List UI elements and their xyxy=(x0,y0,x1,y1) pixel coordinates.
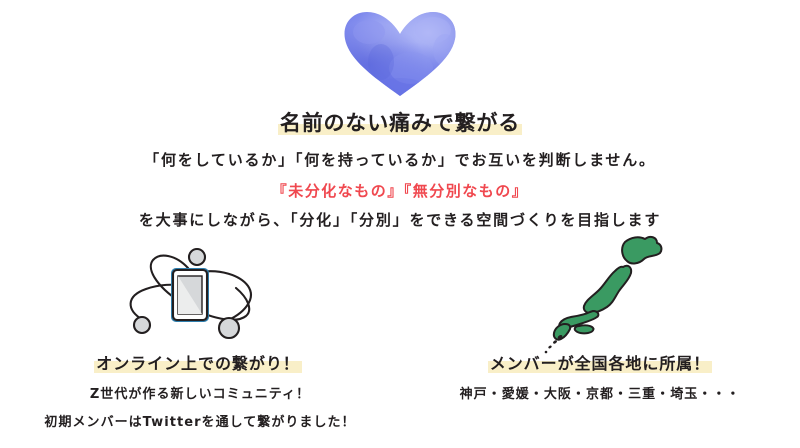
feature-title-nationwide: メンバーが全国各地に所属！ xyxy=(488,350,712,374)
lead-line-3: を大事にしながら、「分化」「分別」をできる空間づくりを目指します xyxy=(0,209,800,230)
slide-canvas: 名前のない痛みで繋がる 「何をしているか」「何を持っているか」でお互いを判断しま… xyxy=(0,0,800,448)
tablet-network-orbit-icon xyxy=(116,242,266,346)
watercolor-heart-icon xyxy=(341,10,459,98)
feature-title-nationwide-text: メンバーが全国各地に所属！ xyxy=(488,354,712,373)
feature-title-online-text: オンライン上での繋がり！ xyxy=(94,354,302,373)
feature-title-online: オンライン上での繋がり！ xyxy=(94,350,302,374)
lead-line-2-emphasis: 『未分化なもの』『無分別なもの』 xyxy=(0,180,800,201)
feature-column-online: オンライン上での繋がり！ Z世代が作る新しいコミュニティ！ 初期メンバーはTwi… xyxy=(0,240,400,448)
feature-column-nationwide: メンバーが全国各地に所属！ 神戸・愛媛・大阪・京都・三重・埼玉・・・ xyxy=(400,240,800,448)
feature-line-online-2: 初期メンバーはTwitterを通して繋がりました！ xyxy=(44,411,355,430)
page-title: 名前のない痛みで繋がる xyxy=(0,110,800,136)
feature-line-online-1: Z世代が作る新しいコミュニティ！ xyxy=(90,383,310,402)
japan-map-icon xyxy=(543,233,675,355)
feature-line-nationwide-1: 神戸・愛媛・大阪・京都・三重・埼玉・・・ xyxy=(460,383,741,402)
feature-illustration-map xyxy=(543,240,675,348)
feature-illustration-online xyxy=(116,240,266,348)
page-title-text: 名前のない痛みで繋がる xyxy=(278,111,522,135)
hero-illustration xyxy=(0,8,800,100)
lead-line-1: 「何をしているか」「何を持っているか」でお互いを判断しません。 xyxy=(0,149,800,170)
feature-columns: オンライン上での繋がり！ Z世代が作る新しいコミュニティ！ 初期メンバーはTwi… xyxy=(0,240,800,448)
